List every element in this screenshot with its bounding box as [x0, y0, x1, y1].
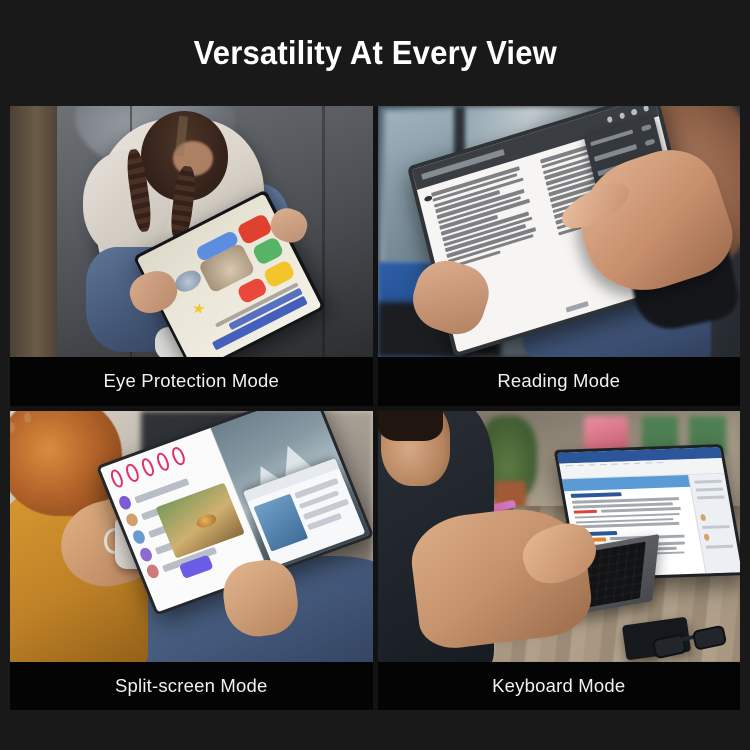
feature-card-reading[interactable]: Reading Mode [378, 106, 741, 406]
label-eye-protection: Eye Protection Mode [10, 357, 373, 406]
toolbar-icon[interactable] [657, 462, 664, 463]
feature-card-keyboard[interactable]: Keyboard Mode [378, 411, 741, 711]
photo-reading [378, 106, 741, 357]
scene-keyboard-mode [378, 411, 741, 662]
feature-card-split-screen[interactable]: Split-screen Mode [10, 411, 373, 711]
product-feature-page: Versatility At Every View [0, 0, 750, 750]
story-avatar[interactable] [124, 462, 141, 483]
scene-reading [378, 106, 741, 357]
toolbar-icon[interactable] [577, 464, 584, 465]
feature-grid: Eye Protection Mode [10, 106, 740, 710]
list-avatar[interactable] [131, 528, 147, 545]
label-reading: Reading Mode [378, 357, 741, 406]
settings-icon [630, 108, 637, 115]
toolbar-icon[interactable] [589, 464, 596, 465]
title-bar: Versatility At Every View [0, 0, 750, 105]
scene-child-on-sofa [10, 106, 373, 357]
toolbar-icon[interactable] [600, 464, 607, 465]
menu-row[interactable] [590, 130, 633, 147]
toolbar-icon[interactable] [634, 462, 641, 463]
toolbar-icon[interactable] [623, 463, 630, 464]
page-title: Versatility At Every View [193, 34, 556, 72]
avatar [700, 513, 707, 520]
star-icon [190, 301, 207, 317]
toolbar-icon[interactable] [566, 465, 573, 466]
lens-right [691, 625, 726, 651]
photo-keyboard [378, 411, 741, 662]
story-avatar[interactable] [139, 456, 156, 477]
menu-row[interactable] [593, 144, 636, 161]
list-avatar[interactable] [138, 545, 154, 562]
toolbar-icon[interactable] [645, 462, 652, 463]
story-avatar[interactable] [170, 445, 187, 466]
bookmark-icon [618, 112, 625, 119]
list-avatar[interactable] [124, 511, 140, 528]
story-avatar[interactable] [108, 468, 125, 489]
avatar [703, 533, 710, 540]
story-avatar[interactable] [154, 451, 171, 472]
label-keyboard: Keyboard Mode [378, 662, 741, 711]
page-number [565, 301, 588, 313]
scene-split-screen [10, 411, 373, 662]
feature-card-eye-protection[interactable]: Eye Protection Mode [10, 106, 373, 406]
label-split-screen: Split-screen Mode [10, 662, 373, 711]
menu-toggle[interactable] [644, 139, 655, 147]
toolbar-icon[interactable] [611, 463, 618, 464]
animal-subject [195, 512, 219, 530]
highlight-red [574, 509, 597, 513]
document-heading [571, 492, 622, 498]
photo-split-screen [10, 411, 373, 662]
list-avatar[interactable] [117, 494, 133, 511]
person-hair [378, 411, 443, 441]
more-icon [642, 106, 649, 112]
sofa-seam-right [322, 106, 325, 357]
list-avatar[interactable] [145, 563, 161, 580]
photo-eye-protection [10, 106, 373, 357]
menu-toggle[interactable] [640, 124, 651, 132]
search-icon [606, 116, 613, 123]
